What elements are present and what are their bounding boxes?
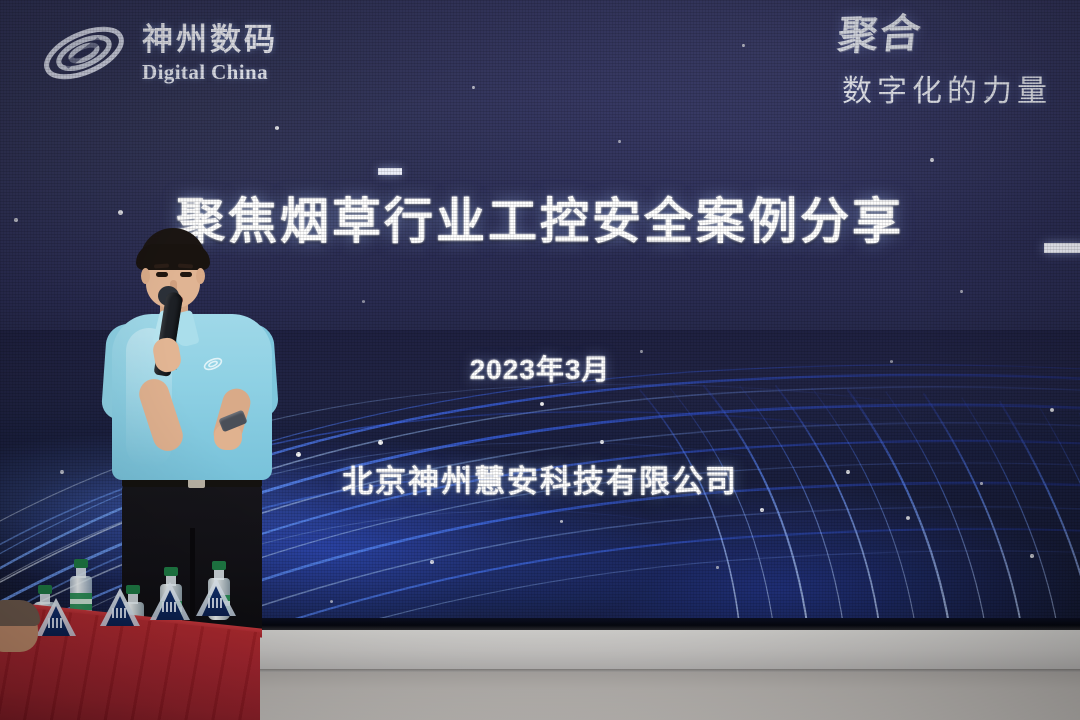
logo-text: 神州数码 Digital China bbox=[142, 24, 278, 83]
title-tick-mark bbox=[378, 168, 402, 175]
presenter-eye-left bbox=[156, 272, 168, 277]
presenter-ear-right bbox=[196, 268, 205, 284]
slogan-sub-text: 数字化的力量 bbox=[838, 66, 1052, 110]
event-slogan: 聚合 数字化的力量 bbox=[838, 16, 1052, 110]
presenter-ear-left bbox=[141, 268, 150, 284]
name-tent-card bbox=[100, 588, 140, 626]
presenter-hair-front bbox=[136, 244, 210, 270]
logo-english-name: Digital China bbox=[142, 62, 278, 83]
conference-stage-photo: 神州数码 Digital China 聚合 数字化的力量 聚焦烟草行业工控安全案… bbox=[0, 0, 1080, 720]
name-tent-card bbox=[150, 582, 190, 620]
name-tent-card bbox=[196, 578, 236, 616]
name-tent-card bbox=[36, 598, 76, 636]
presenter-chest-logo-icon bbox=[202, 354, 224, 374]
presenter bbox=[96, 228, 286, 636]
presenter-trouser-seam bbox=[190, 528, 195, 636]
presenter-eye-right bbox=[180, 272, 192, 277]
logo-chinese-name: 神州数码 bbox=[142, 24, 278, 55]
digital-china-logo: 神州数码 Digital China bbox=[38, 18, 278, 88]
slogan-brush-text: 聚合 bbox=[836, 15, 924, 56]
digital-china-swirl-icon bbox=[38, 18, 130, 88]
